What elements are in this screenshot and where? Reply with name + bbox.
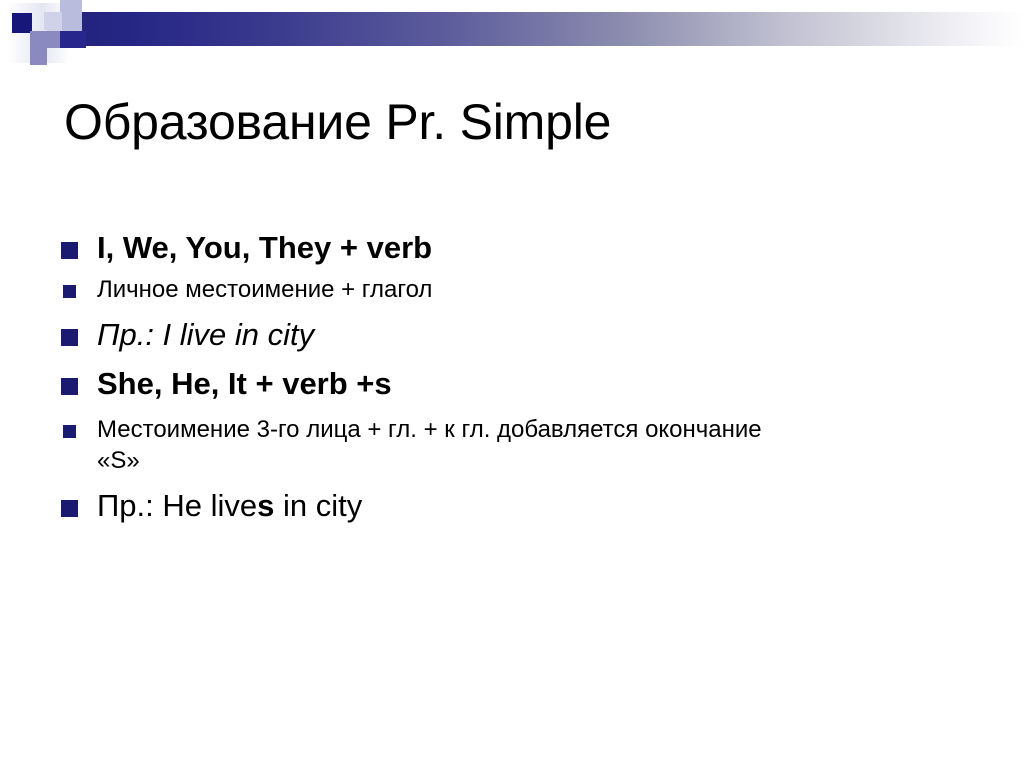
bullet-text-emphasis: s [257,488,274,523]
presentation-slide: Образование Pr. Simple I, We, You, They … [0,0,1024,767]
bullet-item: I, We, You, They + verb [58,228,978,268]
bullet-item: She, He, It + verb +s [58,364,978,404]
decoration-square-navy-step [60,31,86,48]
bullet-text-after: in city [274,488,362,523]
square-bullet-icon [63,285,76,298]
header-decoration [0,0,1024,72]
bullet-text: I, We, You, They + verb [97,228,978,268]
bullet-item: Пр.: I live in city [58,315,978,355]
decoration-square-mid-bottom [30,48,47,65]
bullet-text-before: Пр.: He live [97,488,257,523]
bullet-text: Личное местоимение + глагол [97,274,978,306]
bullet-item: Пр.: He lives in city [58,486,978,526]
bullet-text: Пр.: He lives in city [97,486,978,526]
square-bullet-icon [63,425,76,438]
decoration-square-pale-center [47,12,62,31]
bullet-text: She, He, It + verb +s [97,364,978,404]
decoration-gradient-bar [60,12,1024,46]
square-bullet-icon [61,378,78,395]
bullet-text: Пр.: I live in city [97,315,978,355]
square-bullet-icon [61,242,78,259]
decoration-square-navy-dark [12,13,32,33]
square-bullet-icon [61,500,78,517]
bullet-text: Местоимение 3-го лица + гл. + к гл. доба… [97,414,762,477]
bullet-list: I, We, You, They + verb Личное местоимен… [58,228,978,532]
bullet-item: Личное местоимение + глагол [58,274,978,306]
square-bullet-icon [61,329,78,346]
slide-title: Образование Pr. Simple [64,96,964,149]
decoration-square-mid-left [30,31,47,48]
bullet-item: Местоимение 3-го лица + гл. + к гл. доба… [58,414,978,477]
